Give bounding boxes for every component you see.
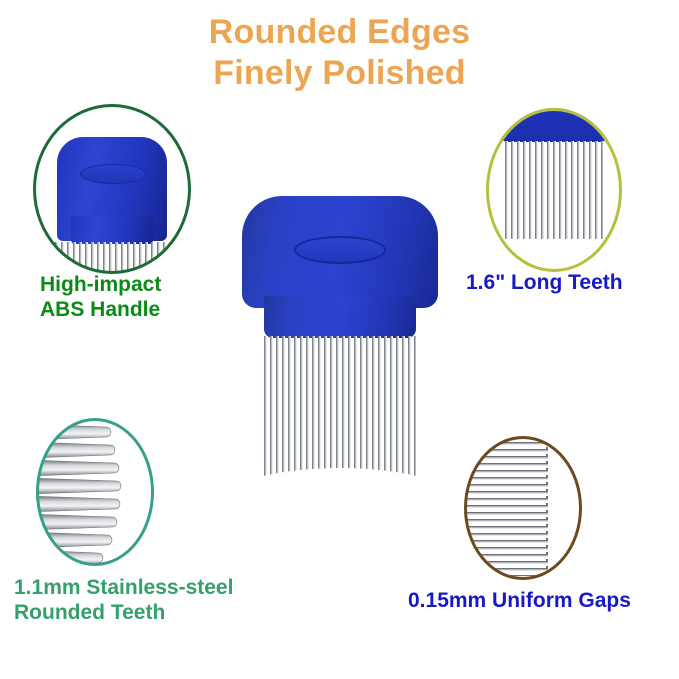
caption-uniform-gaps-line-1: 0.15mm Uniform Gaps <box>408 588 631 613</box>
rounded-teeth-illustration <box>36 418 154 566</box>
handle-teeth <box>55 242 171 274</box>
headline-line-2: Finely Polished <box>0 53 679 94</box>
abs-handle-zoom-view <box>33 104 191 274</box>
caption-abs-handle-line-1: High-impact <box>40 272 161 297</box>
comb-handle-neck <box>264 296 416 338</box>
product-infographic: Rounded Edges Finely Polished High-impac… <box>0 0 679 679</box>
callout-uniform-gaps <box>464 436 582 580</box>
handle-oval-grip <box>80 164 146 184</box>
caption-rounded-teeth-line-2: Rounded Teeth <box>14 600 233 625</box>
uniform-gaps-zoom-view <box>464 436 582 580</box>
caption-rounded-teeth-line-1: 1.1mm Stainless-steel <box>14 575 233 600</box>
comb-oval-grip <box>294 236 386 264</box>
handle-neck <box>71 216 153 244</box>
comb-teeth <box>264 336 416 488</box>
caption-rounded-teeth: 1.1mm Stainless-steel Rounded Teeth <box>14 575 233 625</box>
caption-long-teeth: 1.6" Long Teeth <box>466 270 623 295</box>
caption-abs-handle: High-impact ABS Handle <box>40 272 161 322</box>
callout-rounded-teeth <box>36 418 154 566</box>
caption-uniform-gaps: 0.15mm Uniform Gaps <box>408 588 631 613</box>
long-teeth-zoom-view <box>486 108 622 272</box>
callout-abs-handle <box>33 104 191 274</box>
comb-tip-arc-mask <box>212 468 468 548</box>
caption-long-teeth-line-1: 1.6" Long Teeth <box>466 270 623 295</box>
long-teeth-bars <box>505 141 603 239</box>
caption-abs-handle-line-2: ABS Handle <box>40 297 161 322</box>
rounded-teeth-zoom-view <box>36 418 154 566</box>
headline-line-1: Rounded Edges <box>0 12 679 53</box>
center-product-comb <box>238 196 442 492</box>
handle-edge <box>495 108 613 142</box>
callout-long-teeth <box>486 108 622 272</box>
page-title: Rounded Edges Finely Polished <box>0 12 679 95</box>
uniform-gaps-tips <box>464 436 582 580</box>
